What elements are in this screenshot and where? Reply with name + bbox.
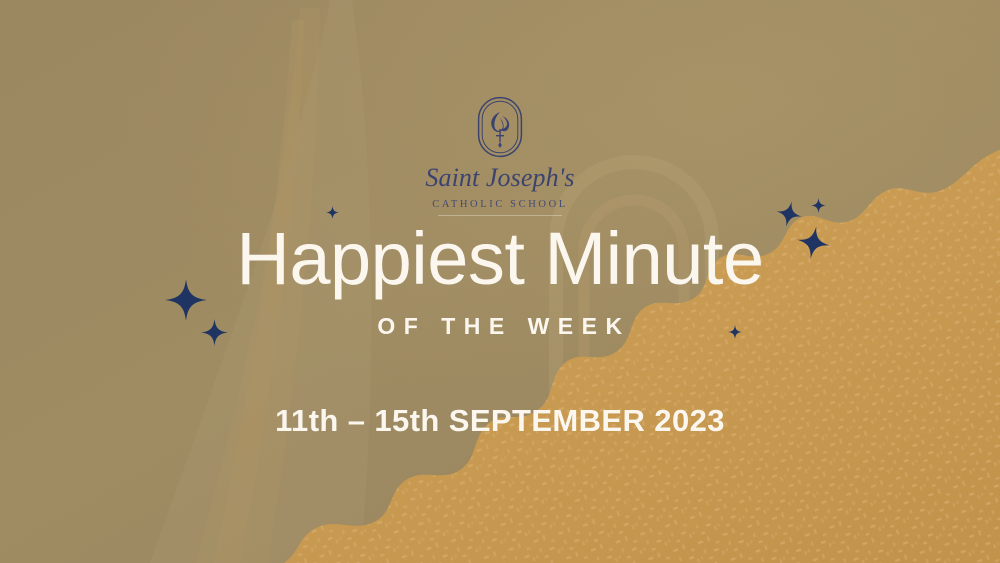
logo-wordmark: Saint Joseph's	[425, 165, 574, 191]
date-range-label: 11th – 15th SEPTEMBER 2023	[0, 403, 1000, 439]
happiest-minute-poster: Saint Joseph's CATHOLIC SCHOOL Happiest …	[0, 0, 1000, 563]
logo-divider-rule	[438, 215, 562, 216]
headline-block: Happiest Minute OF THE WEEK	[0, 222, 1000, 340]
page-title: Happiest Minute	[236, 222, 763, 296]
page-subtitle: OF THE WEEK	[369, 313, 630, 340]
logo-subtitle: CATHOLIC SCHOOL	[432, 199, 568, 210]
school-logo-lockup: Saint Joseph's CATHOLIC SCHOOL	[0, 96, 1000, 216]
saint-josephs-lily-emblem	[477, 96, 523, 158]
